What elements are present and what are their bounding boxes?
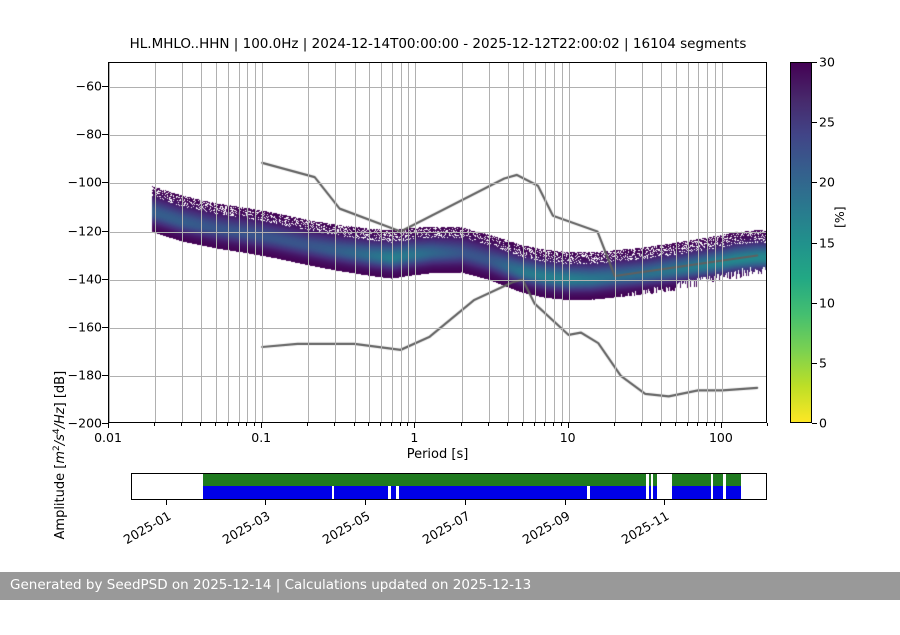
gridline-vertical <box>722 63 723 422</box>
gridline-horizontal <box>109 328 766 329</box>
footer-bar: Generated by SeedPSD on 2025-12-14 | Cal… <box>0 572 900 600</box>
timeline-strip[interactable] <box>131 473 767 500</box>
x-tick-mark-major <box>568 423 569 428</box>
x-tick-mark-minor <box>553 423 554 426</box>
x-tick-mark-minor <box>254 423 255 426</box>
gridline-vertical <box>239 63 240 422</box>
gridline-vertical <box>615 63 616 422</box>
x-tick-mark-minor <box>706 423 707 426</box>
gridline-vertical <box>228 63 229 422</box>
gridline-vertical <box>562 63 563 422</box>
x-axis-ticks: 0.010.1110100 <box>108 423 767 449</box>
gridline-vertical <box>182 63 183 422</box>
gridline-vertical <box>216 63 217 422</box>
timeline-segment-green <box>672 474 711 486</box>
colorbar-tick-label: 30 <box>819 55 835 70</box>
gridline-vertical <box>569 63 570 422</box>
gridline-vertical <box>676 63 677 422</box>
timeline-segment-blue <box>399 486 587 500</box>
x-tick-mark-minor <box>354 423 355 426</box>
timeline-segment-green <box>203 474 646 486</box>
x-axis-label: Period [s] <box>108 447 767 462</box>
psd-figure: HL.MHLO..HHN | 100.0Hz | 2024-12-14T00:0… <box>0 0 900 600</box>
colorbar-label: [%] <box>832 206 847 228</box>
timeline-segment-blue <box>334 486 388 500</box>
colorbar-tick-mark <box>812 243 817 244</box>
x-tick-mark-minor <box>380 423 381 426</box>
timeline-segment-blue <box>391 486 396 500</box>
colorbar-tick-mark <box>812 62 817 63</box>
x-tick-mark-major <box>108 423 109 428</box>
page-title: HL.MHLO..HHN | 100.0Hz | 2024-12-14T00:0… <box>108 36 768 52</box>
gridline-vertical <box>661 63 662 422</box>
gridline-vertical <box>369 63 370 422</box>
x-tick-mark-minor <box>675 423 676 426</box>
x-tick-mark-minor <box>767 423 768 426</box>
gridline-vertical <box>535 63 536 422</box>
gridline-vertical <box>201 63 202 422</box>
gridline-vertical <box>698 63 699 422</box>
x-tick-mark-minor <box>400 423 401 426</box>
timeline-segment-blue <box>726 486 741 500</box>
gridline-vertical <box>155 63 156 422</box>
y-tick-label: −80 <box>76 127 102 142</box>
colorbar-tick-mark <box>812 182 817 183</box>
gridline-vertical <box>508 63 509 422</box>
x-tick-mark-minor <box>488 423 489 426</box>
gridline-vertical <box>408 63 409 422</box>
gridline-horizontal <box>109 280 766 281</box>
timeline-segment-green <box>649 474 651 486</box>
gridline-vertical <box>688 63 689 422</box>
x-tick-mark-minor <box>461 423 462 426</box>
gridline-vertical <box>401 63 402 422</box>
gridline-vertical <box>308 63 309 422</box>
x-tick-mark-minor <box>307 423 308 426</box>
x-tick-mark-minor <box>181 423 182 426</box>
gridline-vertical <box>554 63 555 422</box>
colorbar-ticks: 051015202530 <box>812 62 852 423</box>
timeline-segment-blue <box>653 486 657 500</box>
x-tick-mark-minor <box>687 423 688 426</box>
y-axis-ticks: −60−80−100−120−140−160−180−200 <box>58 62 102 423</box>
gridline-vertical <box>262 63 263 422</box>
colorbar-tick-mark <box>812 122 817 123</box>
timeline-segment-blue <box>203 486 332 500</box>
timeline-tick-label: 2025-07 <box>415 508 473 550</box>
gridline-vertical <box>247 63 248 422</box>
timeline-ticks: 2025-012025-032025-052025-072025-092025-… <box>131 500 767 512</box>
colorbar <box>790 62 812 423</box>
x-tick-mark-minor <box>561 423 562 426</box>
x-tick-label: 0.1 <box>251 430 271 445</box>
y-axis-label-wrap: Amplitude [m2/s4/Hz] [dB] <box>30 242 31 243</box>
x-tick-mark-minor <box>200 423 201 426</box>
x-tick-mark-minor <box>334 423 335 426</box>
colorbar-tick-mark <box>812 363 817 364</box>
timeline-tick-mark <box>565 500 566 505</box>
gridline-vertical <box>415 63 416 422</box>
gridline-horizontal <box>109 183 766 184</box>
y-tick-label: −120 <box>68 223 102 238</box>
x-tick-mark-minor <box>544 423 545 426</box>
y-tick-label: −140 <box>68 271 102 286</box>
x-tick-mark-major <box>414 423 415 428</box>
gridline-vertical <box>335 63 336 422</box>
gridline-vertical <box>355 63 356 422</box>
x-tick-label: 1 <box>410 430 418 445</box>
colorbar-tick-label: 10 <box>819 295 835 310</box>
x-tick-mark-minor <box>407 423 408 426</box>
timeline-tick-mark <box>265 500 266 505</box>
x-tick-mark-minor <box>660 423 661 426</box>
x-tick-label: 0.01 <box>94 430 122 445</box>
timeline-tick-mark <box>166 500 167 505</box>
y-tick-label: −100 <box>68 175 102 190</box>
x-tick-mark-minor <box>714 423 715 426</box>
timeline-segment-blue <box>672 486 711 500</box>
footer-text: Generated by SeedPSD on 2025-12-14 | Cal… <box>10 577 531 593</box>
gridline-vertical <box>707 63 708 422</box>
x-tick-label: 10 <box>560 430 576 445</box>
timeline-segment-blue <box>713 486 723 500</box>
timeline-tick-mark <box>465 500 466 505</box>
y-tick-label: −160 <box>68 319 102 334</box>
x-tick-mark-minor <box>246 423 247 426</box>
psd-plot-area[interactable] <box>108 62 767 423</box>
colorbar-tick-label: 0 <box>819 416 827 431</box>
colorbar-tick-mark <box>812 423 817 424</box>
timeline-segment-green <box>713 474 723 486</box>
gridline-horizontal <box>109 376 766 377</box>
x-tick-mark-major <box>261 423 262 428</box>
timeline-tick-label: 2025-01 <box>116 508 174 550</box>
x-tick-mark-minor <box>227 423 228 426</box>
gridline-horizontal <box>109 87 766 88</box>
gridline-vertical <box>381 63 382 422</box>
x-tick-mark-minor <box>238 423 239 426</box>
colorbar-tick-mark <box>812 303 817 304</box>
timeline-segment-green <box>726 474 741 486</box>
timeline-tick-label: 2025-09 <box>515 508 573 550</box>
gridline-vertical <box>109 63 110 422</box>
y-tick-label: −200 <box>68 416 102 431</box>
y-tick-label: −60 <box>76 79 102 94</box>
y-tick-label: −180 <box>68 367 102 382</box>
gridline-vertical <box>715 63 716 422</box>
x-tick-mark-minor <box>522 423 523 426</box>
gridline-vertical <box>642 63 643 422</box>
timeline-segment-blue <box>649 486 651 500</box>
gridline-vertical <box>523 63 524 422</box>
timeline-tick-label: 2025-05 <box>315 508 373 550</box>
x-tick-mark-minor <box>507 423 508 426</box>
x-tick-mark-minor <box>697 423 698 426</box>
x-tick-mark-minor <box>614 423 615 426</box>
x-tick-mark-minor <box>391 423 392 426</box>
colorbar-tick-label: 5 <box>819 355 827 370</box>
x-tick-label: 100 <box>709 430 733 445</box>
colorbar-tick-label: 20 <box>819 175 835 190</box>
x-tick-mark-minor <box>534 423 535 426</box>
timeline-segment-blue <box>590 486 646 500</box>
timeline-tick-label: 2025-11 <box>614 508 672 550</box>
gridline-vertical <box>392 63 393 422</box>
gridline-vertical <box>255 63 256 422</box>
x-tick-mark-major <box>721 423 722 428</box>
colorbar-tick-label: 15 <box>819 235 835 250</box>
gridline-horizontal <box>109 232 766 233</box>
timeline-segment-green <box>653 474 657 486</box>
gridline-horizontal <box>109 135 766 136</box>
timeline-tick-mark <box>664 500 665 505</box>
x-tick-mark-minor <box>368 423 369 426</box>
x-tick-mark-minor <box>154 423 155 426</box>
x-tick-mark-minor <box>641 423 642 426</box>
colorbar-tick-label: 25 <box>819 115 835 130</box>
gridline-vertical <box>489 63 490 422</box>
timeline-tick-label: 2025-03 <box>214 508 272 550</box>
x-tick-mark-minor <box>215 423 216 426</box>
timeline-tick-mark <box>365 500 366 505</box>
gridline-vertical <box>462 63 463 422</box>
gridline-vertical <box>545 63 546 422</box>
psd-probability-density-heatmap <box>109 63 767 423</box>
